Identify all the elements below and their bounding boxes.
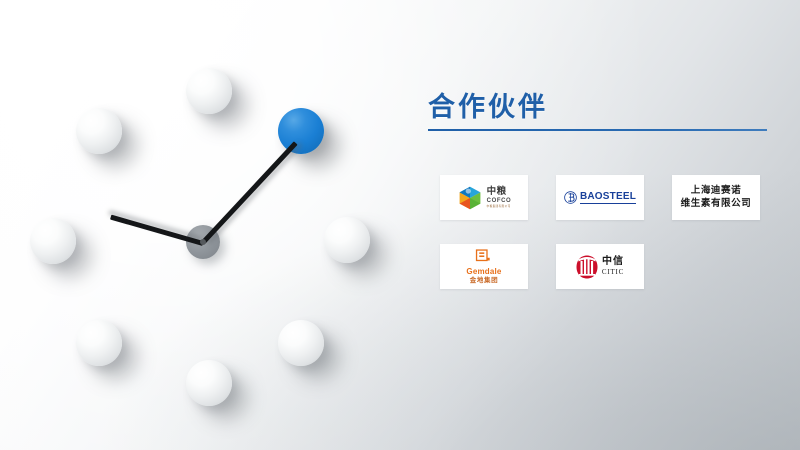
citic-wordmark: 中信 CITIC [602,257,624,276]
page-title: 合作伙伴 [428,92,768,123]
partners-panel: 合作伙伴 [428,92,768,131]
partner-logo-grid: 中粮 COFCO 中粮集团有限公司 BAOSTEEL 上海迪赛诺 维生素 [440,175,772,289]
hour-marker-7 [76,320,122,366]
cofco-wordmark: 中粮 COFCO 中粮集团有限公司 [487,187,512,209]
cofco-tagline: 中粮集团有限公司 [487,206,511,209]
partner-card-citic[interactable]: 中信 CITIC [556,244,644,289]
clock-center-pin [200,239,206,245]
cofco-logo: 中粮 COFCO 中粮集团有限公司 [457,185,512,211]
hour-marker-3 [324,217,370,263]
citic-en-name: CITIC [602,269,624,276]
desano-line-2: 维生素有限公司 [681,198,752,211]
hour-marker-6 [186,360,232,406]
cofco-cube-icon [457,185,483,211]
partner-card-desano[interactable]: 上海迪赛诺 维生素有限公司 [672,175,760,220]
citic-logo: 中信 CITIC [576,255,624,279]
gemdale-cn-name: 金地集团 [470,278,498,285]
baosteel-logo: BAOSTEEL [564,191,636,204]
citic-emblem-icon [576,255,598,279]
partner-card-baosteel[interactable]: BAOSTEEL [556,175,644,220]
hour-marker-9 [30,218,76,264]
gemdale-square-icon [475,249,492,265]
cofco-cn-name: 中粮 [487,187,507,197]
citic-cn-name: 中信 [602,257,624,267]
partner-card-gemdale[interactable]: Gemdale 金地集团 [440,244,528,289]
gemdale-logo: Gemdale 金地集团 [466,249,501,285]
cofco-en-name: COFCO [487,198,512,204]
partner-card-cofco[interactable]: 中粮 COFCO 中粮集团有限公司 [440,175,528,220]
hour-marker-12 [186,68,232,114]
title-underline [428,129,767,131]
wall-clock-illustration [10,20,410,440]
baosteel-emblem-icon [564,191,577,204]
slide-canvas: 合作伙伴 中粮 COFCO 中粮集团有限公司 [0,0,800,450]
hour-marker-10 [76,108,122,154]
desano-line-1: 上海迪赛诺 [681,185,752,198]
hour-marker-2-highlight [278,108,324,154]
hour-marker-5 [278,320,324,366]
baosteel-wordmark: BAOSTEEL [580,192,636,204]
desano-wordmark: 上海迪赛诺 维生素有限公司 [681,185,752,211]
gemdale-wordmark: Gemdale [466,268,501,276]
clock-minute-hand [201,141,297,244]
